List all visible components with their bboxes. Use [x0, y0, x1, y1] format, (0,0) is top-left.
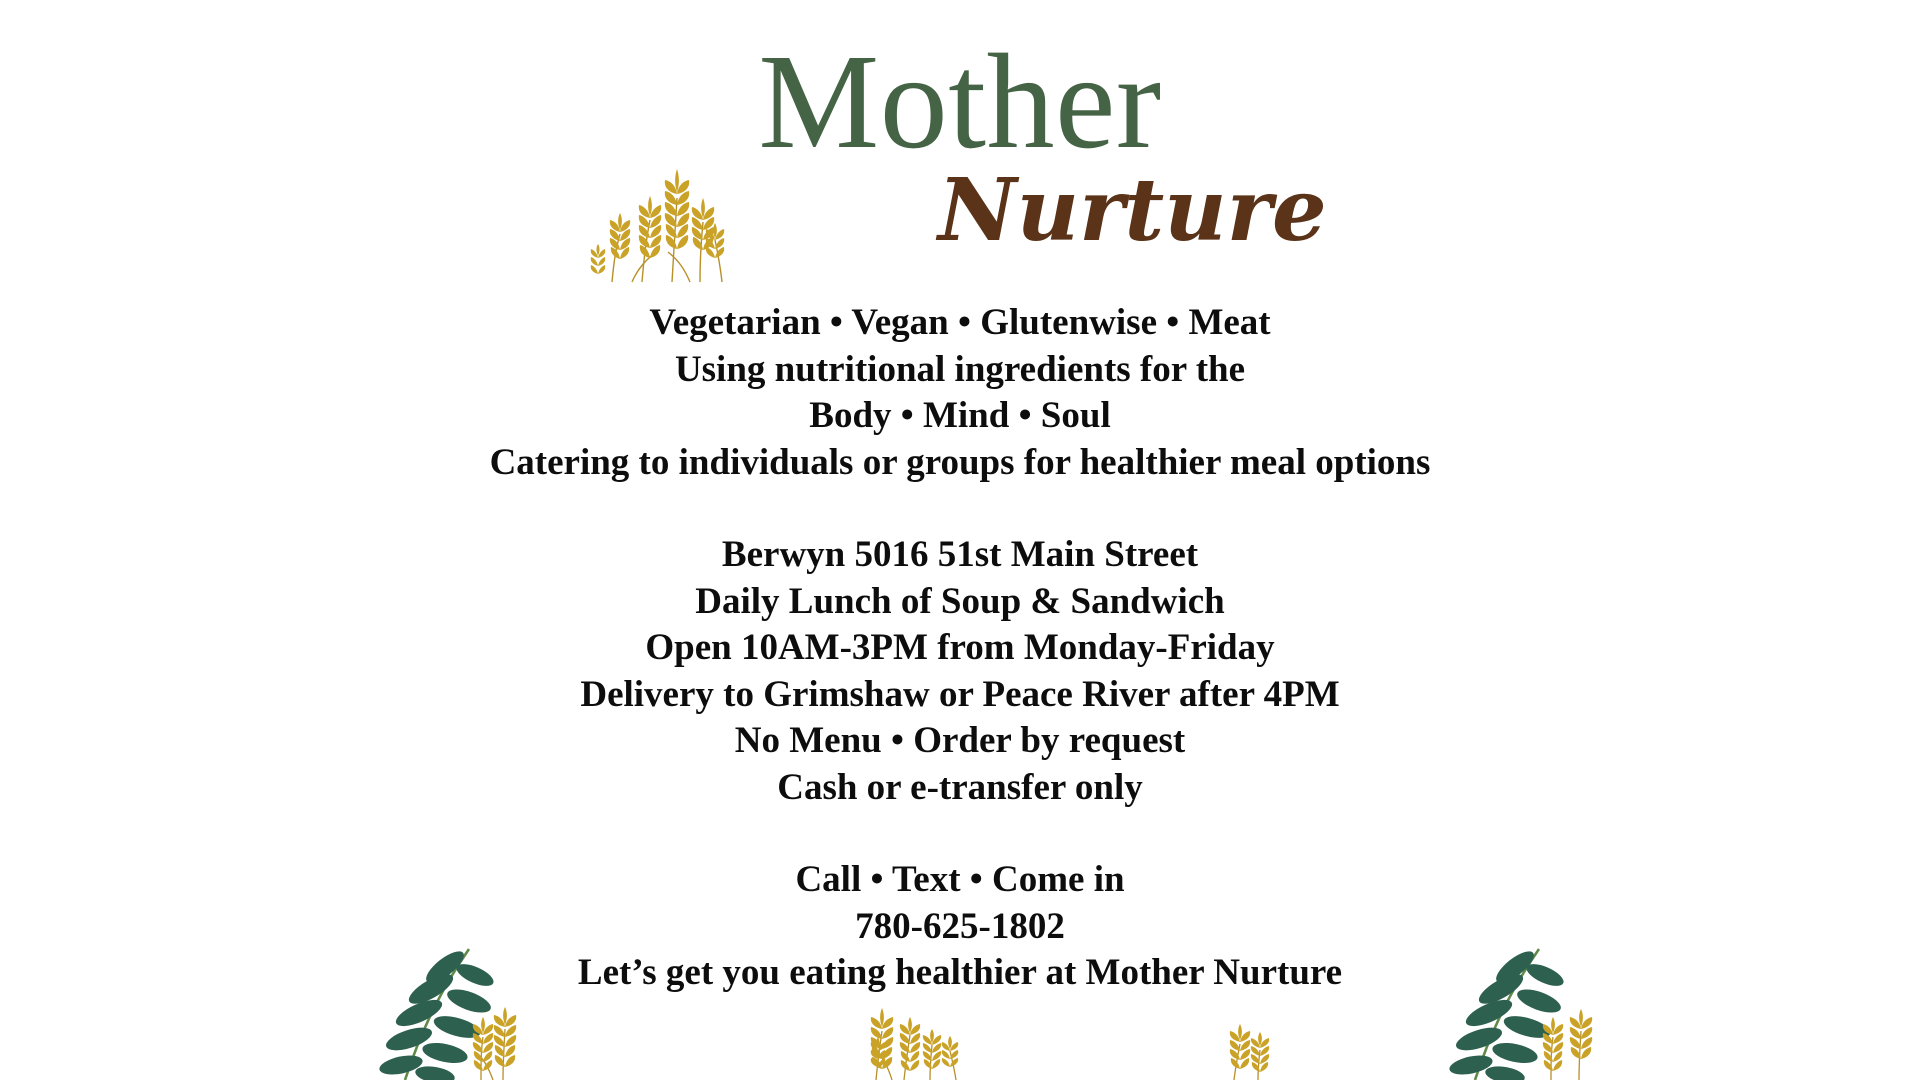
location-line-address: Berwyn 5016 51st Main Street [0, 532, 1920, 579]
body-line-3: Body • Mind • Soul [0, 393, 1920, 440]
poster-canvas: Mother [0, 0, 1920, 1080]
location-line-delivery: Delivery to Grimshaw or Peace River afte… [0, 672, 1920, 719]
body-line-1: Vegetarian • Vegan • Glutenwise • Meat [0, 300, 1920, 347]
wheat-cluster-center-right-icon [1210, 1002, 1290, 1080]
spacer-2 [0, 811, 1920, 857]
location-line-hours: Open 10AM-3PM from Monday-Friday [0, 625, 1920, 672]
poster-copy: Vegetarian • Vegan • Glutenwise • Meat U… [0, 300, 1920, 997]
location-line-lunch: Daily Lunch of Soup & Sandwich [0, 579, 1920, 626]
phone-number[interactable]: 780-625-1802 [0, 904, 1920, 951]
body-line-4: Catering to individuals or groups for he… [0, 440, 1920, 487]
leaf-wheat-right-icon [1455, 945, 1635, 1080]
body-line-2: Using nutritional ingredients for the [0, 347, 1920, 394]
logo-primary-word: Mother [0, 34, 1920, 170]
logo-script-word: Nurture [938, 168, 1327, 254]
wheat-cluster-logo-icon [572, 164, 762, 282]
wheat-cluster-center-icon [860, 985, 990, 1080]
contact-line-methods: Call • Text • Come in [0, 857, 1920, 904]
location-line-payment: Cash or e-transfer only [0, 765, 1920, 812]
logo: Mother [0, 34, 1920, 254]
location-line-menu: No Menu • Order by request [0, 718, 1920, 765]
leaf-wheat-left-icon [385, 945, 565, 1080]
spacer-1 [0, 486, 1920, 532]
